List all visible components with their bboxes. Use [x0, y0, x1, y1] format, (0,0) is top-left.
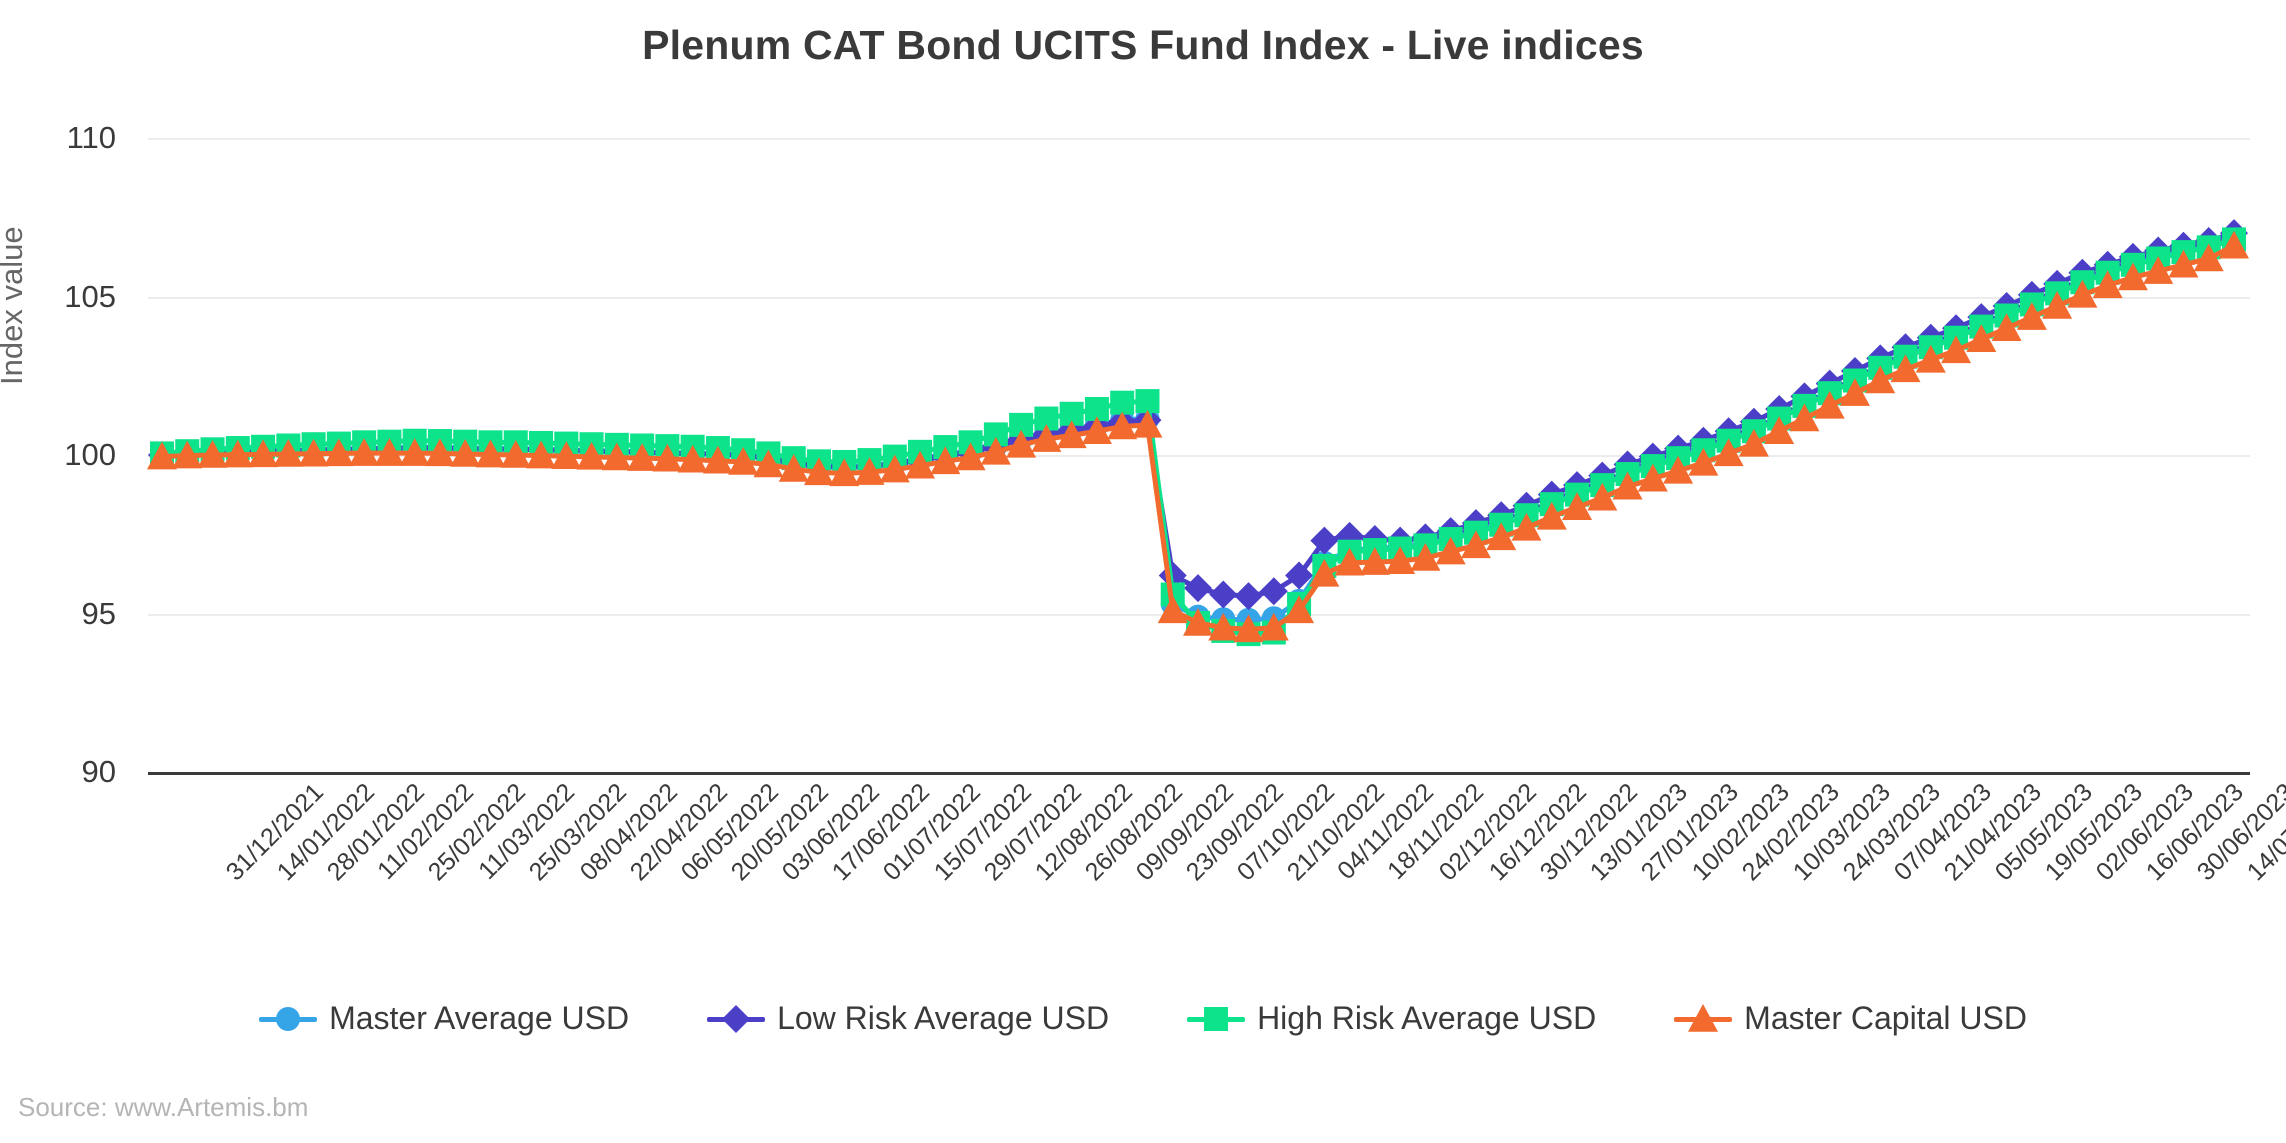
series-line: [162, 238, 2234, 620]
legend-label: Master Average USD: [329, 1000, 629, 1037]
y-tick-90: 90: [82, 754, 116, 790]
circle-icon: [259, 1004, 317, 1034]
legend: Master Average USDLow Risk Average USDHi…: [0, 1000, 2286, 1037]
data-point-square: [1110, 391, 1134, 415]
plot-area: [148, 138, 2250, 772]
x-axis-tick-labels: 31/12/202114/01/202228/01/202211/02/2022…: [148, 778, 2250, 978]
series-master-average-usd: [150, 226, 2246, 632]
y-tick-95: 95: [82, 596, 116, 632]
legend-item-triangle[interactable]: Master Capital USD: [1674, 1000, 2027, 1037]
diamond-icon: [707, 1004, 765, 1034]
square-icon: [1187, 1004, 1245, 1034]
legend-label: High Risk Average USD: [1257, 1000, 1596, 1037]
legend-label: Master Capital USD: [1744, 1000, 2027, 1037]
data-point-diamond: [722, 1005, 750, 1033]
data-point-circle: [276, 1007, 300, 1031]
y-tick-100: 100: [64, 437, 116, 473]
page-title: Plenum CAT Bond UCITS Fund Index - Live …: [0, 22, 2286, 69]
legend-item-diamond[interactable]: Low Risk Average USD: [707, 1000, 1109, 1037]
chart-page: Plenum CAT Bond UCITS Fund Index - Live …: [0, 0, 2286, 1143]
series-low-risk-average-usd: [148, 219, 2248, 610]
legend-item-circle[interactable]: Master Average USD: [259, 1000, 629, 1037]
y-tick-110: 110: [67, 120, 116, 156]
data-point-square: [1135, 389, 1159, 413]
y-axis-title: Index value: [0, 226, 30, 385]
data-point-square: [1204, 1007, 1228, 1031]
legend-label: Low Risk Average USD: [777, 1000, 1109, 1037]
legend-item-square[interactable]: High Risk Average USD: [1187, 1000, 1596, 1037]
series-layer: [148, 138, 2250, 772]
data-point-diamond: [1235, 582, 1263, 610]
y-tick-105: 105: [64, 279, 116, 315]
data-point-diamond: [1260, 577, 1288, 605]
data-point-diamond: [1209, 580, 1237, 608]
series-line: [162, 233, 2234, 596]
gridline-90: [148, 772, 2250, 775]
data-point-diamond: [1184, 574, 1212, 602]
source-note: Source: www.Artemis.bm: [18, 1092, 308, 1123]
triangle-icon: [1674, 1004, 1732, 1034]
data-point-triangle: [1688, 1004, 1718, 1032]
